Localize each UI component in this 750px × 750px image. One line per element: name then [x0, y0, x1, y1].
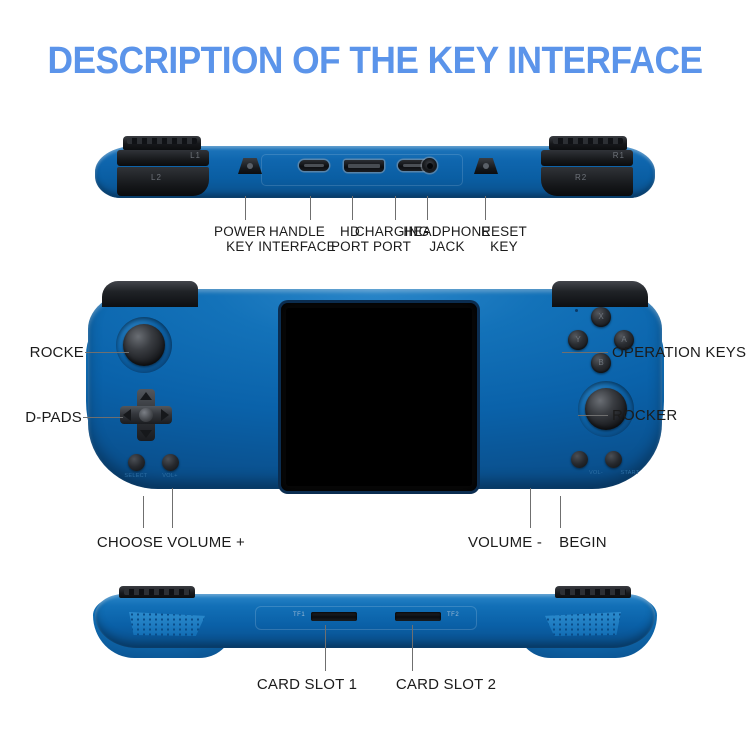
shoulder-l2-label: L2	[151, 173, 162, 182]
button-y[interactable]: Y	[568, 330, 588, 350]
leader-hd-port	[352, 196, 353, 220]
display-screen	[281, 303, 477, 491]
select-button[interactable]	[128, 454, 145, 471]
speaker-grille-left	[129, 612, 205, 636]
top-ridge-right	[549, 136, 627, 150]
d-pad[interactable]	[120, 389, 172, 441]
shoulder-r2-label: R2	[575, 173, 587, 182]
button-x[interactable]: X	[591, 307, 611, 327]
callout-begin: BEGIN	[559, 534, 607, 551]
callout-card-slot-1: CARD SLOT 1	[257, 676, 357, 693]
start-button[interactable]	[605, 451, 622, 468]
callout-reset-key: RESET KEY	[481, 224, 527, 254]
shoulder-button-l2[interactable]: L2	[117, 167, 209, 196]
callout-choose: CHOOSE	[97, 534, 163, 551]
top-edge-device-view: L2 L1 R2 R1	[95, 136, 655, 198]
callout-d-pads: D-PADS	[25, 409, 82, 426]
leader-card-slot-1	[325, 625, 326, 671]
leader-volume-plus	[172, 488, 173, 528]
dpad-down-icon[interactable]	[140, 430, 152, 438]
bottom-edge-device-view: TF1 TF2	[95, 586, 655, 658]
volume-up-button[interactable]	[162, 454, 179, 471]
leader-card-slot-2	[412, 625, 413, 671]
bottom-ridge-right	[555, 586, 631, 598]
card-slot-1	[311, 612, 357, 621]
hd-port	[344, 160, 384, 172]
leader-operation-keys	[562, 352, 608, 353]
front-shoulder-left	[102, 281, 198, 307]
bottom-ridge-left	[119, 586, 195, 598]
infographic-canvas: DESCRIPTION OF THE KEY INTERFACE L2 L1 R…	[0, 0, 750, 750]
front-device-view: X Y A B SELECT VOL+ VOL- START	[88, 281, 662, 496]
leader-power-key	[245, 196, 246, 220]
volume-down-button[interactable]	[571, 451, 588, 468]
operation-keys-cluster: X Y A B	[568, 307, 634, 373]
callout-volume-plus: VOLUME +	[167, 534, 245, 551]
leader-charging-port	[395, 196, 396, 220]
start-button-label: START	[620, 470, 639, 476]
dpad-right-icon[interactable]	[161, 409, 169, 421]
shoulder-l1-label: L1	[190, 151, 201, 160]
button-b[interactable]: B	[591, 353, 611, 373]
leader-volume-minus	[530, 488, 531, 528]
card-slot-2-caption: TF2	[447, 612, 459, 618]
speaker-grille-right	[545, 612, 621, 636]
top-ridge-left	[123, 136, 201, 150]
select-button-label: SELECT	[124, 473, 147, 479]
callout-rocker-right: ROCKER	[612, 407, 677, 424]
volume-up-button-label: VOL+	[162, 473, 177, 479]
callout-volume-minus: VOLUME -	[468, 534, 542, 551]
callout-card-slot-2: CARD SLOT 2	[396, 676, 496, 693]
headphone-jack	[422, 158, 437, 173]
left-analog-stick[interactable]	[116, 317, 172, 373]
shoulder-r1-label: R1	[613, 151, 625, 160]
card-slot-2	[395, 612, 441, 621]
dpad-up-icon[interactable]	[140, 392, 152, 400]
handle-interface-port	[299, 160, 329, 171]
dpad-left-icon[interactable]	[123, 409, 131, 421]
leader-d-pads	[83, 417, 123, 418]
leader-headphone-jack	[427, 196, 428, 220]
front-shoulder-right	[552, 281, 648, 307]
callout-headphone-jack: HEADPHONE JACK	[403, 224, 490, 254]
callout-rocke-left: ROCKE	[30, 344, 84, 361]
volume-down-button-label: VOL-	[589, 470, 603, 476]
shoulder-button-l1[interactable]: L1	[117, 150, 209, 166]
shoulder-button-r1[interactable]: R1	[541, 150, 633, 166]
leader-reset-key	[485, 196, 486, 220]
shoulder-button-r2[interactable]: R2	[541, 167, 633, 196]
callout-handle-interface: HANDLE INTERFACE	[258, 224, 336, 254]
leader-choose	[143, 496, 144, 528]
callout-operation-keys: OPERATION KEYS	[612, 344, 746, 361]
page-title: DESCRIPTION OF THE KEY INTERFACE	[26, 40, 724, 83]
display-screen-inner	[286, 308, 472, 486]
leader-rocke-left	[85, 352, 129, 353]
leader-begin	[560, 496, 561, 528]
card-slot-1-caption: TF1	[293, 612, 305, 618]
leader-rocker-right	[578, 415, 608, 416]
bottom-center-plate	[255, 606, 477, 630]
leader-handle-interface	[310, 196, 311, 220]
